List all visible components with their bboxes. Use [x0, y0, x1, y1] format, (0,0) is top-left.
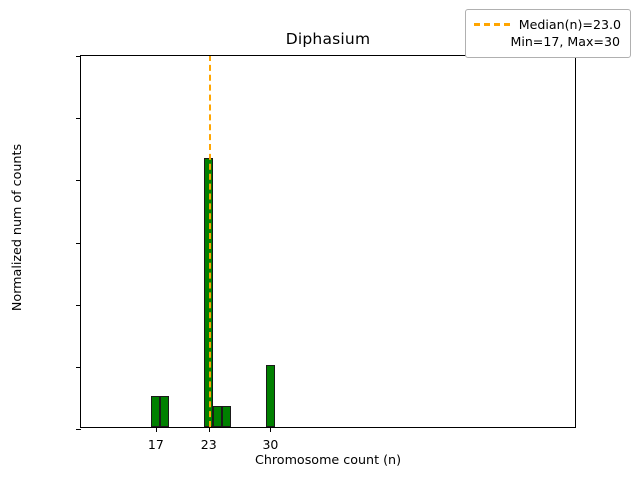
x-axis-label: Chromosome count (n) [80, 452, 576, 467]
y-tick [76, 429, 81, 430]
y-axis-label: Normalized num of counts [9, 41, 24, 414]
plot-inner [81, 56, 575, 427]
x-tick [156, 427, 157, 432]
dashed-line-icon [474, 23, 510, 26]
x-tick [270, 427, 271, 432]
bar [160, 396, 169, 427]
median-line [209, 56, 211, 427]
bar [266, 365, 275, 427]
bar [222, 406, 231, 427]
x-tick-label: 30 [250, 437, 290, 452]
y-tick [76, 367, 81, 368]
bar [151, 396, 160, 427]
legend-item-median: Median(n)=23.0 [474, 16, 621, 33]
y-tick [76, 118, 81, 119]
x-tick-label: 17 [136, 437, 176, 452]
y-tick [76, 305, 81, 306]
legend: Median(n)=23.0 Min=17, Max=30 [465, 9, 631, 58]
plot-area: 0123456172330 [80, 55, 576, 428]
legend-label-median: Median(n)=23.0 [519, 16, 621, 33]
x-tick [209, 427, 210, 432]
chart-figure: Diphasium 0123456172330 Normalized num o… [0, 0, 640, 480]
y-tick [76, 180, 81, 181]
y-tick [76, 56, 81, 57]
legend-label-minmax: Min=17, Max=30 [474, 33, 621, 50]
bar [213, 406, 222, 427]
x-tick-label: 23 [189, 437, 229, 452]
y-axis-label-group: Normalized num of counts (Total 7) [0, 55, 34, 428]
y-tick [76, 243, 81, 244]
